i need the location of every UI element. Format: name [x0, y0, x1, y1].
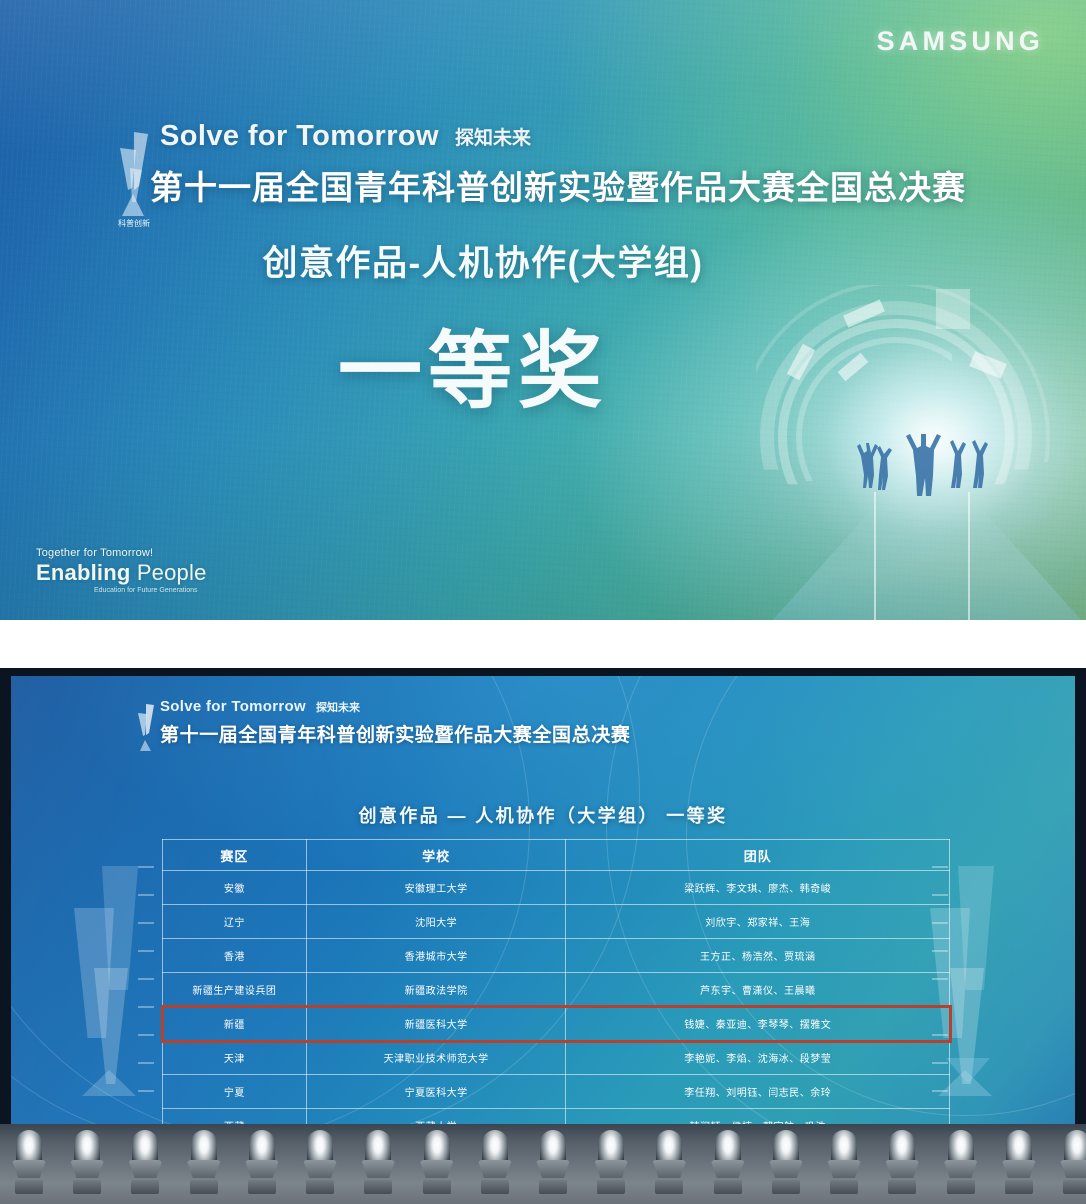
stage-light-base	[830, 1180, 858, 1194]
cell-team: 刘欣宇、郑家祥、王海	[566, 905, 950, 939]
stage-light-yoke	[303, 1160, 337, 1178]
left-trophy-watermark	[72, 866, 148, 1096]
table-row: 安徽 安徽理工大学 梁跃辉、李文琪、廖杰、韩奇峻	[163, 871, 950, 905]
winners-table-body: 安徽 安徽理工大学 梁跃辉、李文琪、廖杰、韩奇峻 辽宁 沈阳大学 刘欣宇、郑家祥…	[163, 871, 950, 1132]
stage-light-yoke	[944, 1160, 978, 1178]
stage-light-base	[306, 1180, 334, 1194]
cell-team: 王方正、杨浩然、贾琉涵	[566, 939, 950, 973]
stage-led-screen: Solve for Tomorrow 探知未来 第十一届全国青年科普创新实验暨作…	[10, 676, 1076, 1131]
stage-light	[10, 1130, 48, 1194]
stage-light-yoke	[128, 1160, 162, 1178]
enabling-people-line: Enabling People	[36, 560, 207, 586]
cell-region: 新疆	[163, 1007, 307, 1041]
together-for-tomorrow-line: Together for Tomorrow!	[36, 547, 207, 559]
stage-light-yoke	[245, 1160, 279, 1178]
bottom-trophy-emblem-icon	[132, 702, 160, 756]
table-row: 香港 香港城市大学 王方正、杨浩然、贾琉涵	[163, 939, 950, 973]
trophy-emblem-icon: 科普创新	[108, 128, 160, 228]
stage-light-yoke	[12, 1160, 46, 1178]
award-level-title: 一等奖	[0, 304, 1086, 425]
screen-bezel-right	[1075, 668, 1086, 1140]
enabling-word: Enabling	[36, 560, 131, 585]
stage-light-base	[73, 1180, 101, 1194]
bottom-winners-list-photo: Solve for Tomorrow 探知未来 第十一届全国青年科普创新实验暨作…	[0, 668, 1086, 1204]
cell-school: 宁夏医科大学	[306, 1075, 566, 1109]
cell-school: 安徽理工大学	[306, 871, 566, 905]
stage-light	[243, 1130, 281, 1194]
program-chinese-label: 探知未来	[455, 123, 531, 150]
header-team: 团队	[566, 840, 950, 871]
table-row: 天津 天津职业技术师范大学 李艳妮、李焰、沈海冰、段梦莹	[163, 1041, 950, 1075]
stage-light-yoke	[187, 1160, 221, 1178]
program-name-row: Solve for Tomorrow 探知未来	[160, 120, 1086, 153]
stage-light	[126, 1130, 164, 1194]
bottom-slide-header: Solve for Tomorrow 探知未来 第十一届全国青年科普创新实验暨作…	[160, 698, 630, 747]
category-title: 创意作品-人机协作(大学组)	[0, 235, 1086, 286]
stage-light-base	[1005, 1180, 1033, 1194]
stage-light-base	[364, 1180, 392, 1194]
stage-light	[942, 1130, 980, 1194]
celebrating-people-silhouettes	[851, 430, 1001, 502]
tunnel-road-line-right	[968, 492, 970, 620]
stage-light-yoke	[361, 1160, 395, 1178]
stage-light	[359, 1130, 397, 1194]
cell-region: 辽宁	[163, 905, 307, 939]
stage-light-yoke	[478, 1160, 512, 1178]
cell-team: 李艳妮、李焰、沈海冰、段梦莹	[566, 1041, 950, 1075]
cell-region: 宁夏	[163, 1075, 307, 1109]
stage-light-yoke	[1002, 1160, 1036, 1178]
cell-region: 安徽	[163, 871, 307, 905]
bottom-event-title: 第十一届全国青年科普创新实验暨作品大赛全国总决赛	[160, 720, 630, 747]
cell-team: 芦东宇、曹潇仪、王晨曦	[566, 973, 950, 1007]
stage-light-base	[190, 1180, 218, 1194]
cell-team: 李任翔、刘明钰、闫志民、余玲	[566, 1075, 950, 1109]
stage-light-yoke	[1060, 1160, 1086, 1178]
cell-school: 沈阳大学	[306, 905, 566, 939]
bottom-program-row: Solve for Tomorrow 探知未来	[160, 698, 630, 715]
education-tagline: Education for Future Generations	[94, 587, 207, 594]
screenshot-page: SAMSUNG	[0, 0, 1086, 1204]
screen-bezel-left	[0, 668, 11, 1140]
trophy-emblem-label: 科普创新	[118, 218, 150, 228]
stage-light	[301, 1130, 339, 1194]
stage-light-base	[131, 1180, 159, 1194]
stage-light	[592, 1130, 630, 1194]
header-region: 赛区	[163, 840, 307, 871]
winners-table: 赛区 学校 团队 安徽 安徽理工大学 梁跃辉、李文琪、廖杰、韩奇峻 辽宁 沈阳大…	[162, 839, 950, 1131]
enabling-people-footer-logo: Together for Tomorrow! Enabling People E…	[36, 547, 207, 594]
cell-region: 新疆生产建设兵团	[163, 973, 307, 1007]
stage-light	[825, 1130, 863, 1194]
stage-light-yoke	[594, 1160, 628, 1178]
stage-light-yoke	[827, 1160, 861, 1178]
stage-light-base	[947, 1180, 975, 1194]
stage-light-base	[888, 1180, 916, 1194]
stage-light-yoke	[769, 1160, 803, 1178]
stage-light	[418, 1130, 456, 1194]
table-row-highlighted: 新疆 新疆医科大学 钱婕、秦亚迪、李琴琴、摆雅文	[163, 1007, 950, 1041]
stage-light-yoke	[70, 1160, 104, 1178]
cell-region: 香港	[163, 939, 307, 973]
stage-light-base	[1063, 1180, 1086, 1194]
people-word: People	[137, 560, 207, 585]
solve-for-tomorrow-label: Solve for Tomorrow	[160, 120, 439, 153]
bottom-solve-for-tomorrow-label: Solve for Tomorrow	[160, 698, 306, 715]
samsung-logo: SAMSUNG	[877, 26, 1044, 57]
stage-light-base	[714, 1180, 742, 1194]
top-slide-text-block: Solve for Tomorrow 探知未来 第十一届全国青年科普创新实验暨作…	[0, 120, 1086, 425]
winners-list-subtitle: 创意作品 — 人机协作（大学组） 一等奖	[10, 802, 1076, 828]
screen-bezel-top	[0, 668, 1086, 676]
cell-region: 天津	[163, 1041, 307, 1075]
stage-light-yoke	[652, 1160, 686, 1178]
top-award-slide-photo: SAMSUNG	[0, 0, 1086, 620]
stage-light-base	[539, 1180, 567, 1194]
down-arrow-decoration	[946, 1058, 990, 1084]
table-row: 宁夏 宁夏医科大学 李任翔、刘明钰、闫志民、余玲	[163, 1075, 950, 1109]
stage-light-base	[248, 1180, 276, 1194]
stage-light-yoke	[420, 1160, 454, 1178]
tunnel-road-line-left	[874, 492, 876, 620]
table-header-row: 赛区 学校 团队	[163, 840, 950, 871]
stage-light	[68, 1130, 106, 1194]
stage-light	[534, 1130, 572, 1194]
stage-light-yoke	[885, 1160, 919, 1178]
header-school: 学校	[306, 840, 566, 871]
stage-light	[185, 1130, 223, 1194]
stage-light	[650, 1130, 688, 1194]
cell-school: 香港城市大学	[306, 939, 566, 973]
cell-school: 新疆政法学院	[306, 973, 566, 1007]
stage-light-base	[655, 1180, 683, 1194]
stage-light-base	[423, 1180, 451, 1194]
cell-team: 钱婕、秦亚迪、李琴琴、摆雅文	[566, 1007, 950, 1041]
table-row: 辽宁 沈阳大学 刘欣宇、郑家祥、王海	[163, 905, 950, 939]
stage-light-base	[597, 1180, 625, 1194]
table-row: 新疆生产建设兵团 新疆政法学院 芦东宇、曹潇仪、王晨曦	[163, 973, 950, 1007]
stage-light	[709, 1130, 747, 1194]
stage-light-yoke	[711, 1160, 745, 1178]
bottom-program-chinese-label: 探知未来	[316, 699, 360, 715]
photo-separator-gap	[0, 620, 1086, 668]
stage-light-yoke	[536, 1160, 570, 1178]
stage-light	[767, 1130, 805, 1194]
cell-school: 天津职业技术师范大学	[306, 1041, 566, 1075]
stage-lights-row	[0, 1124, 1086, 1194]
stage-light	[1058, 1130, 1086, 1194]
event-title: 第十一届全国青年科普创新实验暨作品大赛全国总决赛	[150, 161, 1086, 209]
stage-light	[883, 1130, 921, 1194]
stage-light	[476, 1130, 514, 1194]
stage-light	[1000, 1130, 1038, 1194]
cell-team: 梁跃辉、李文琪、廖杰、韩奇峻	[566, 871, 950, 905]
stage-light-base	[15, 1180, 43, 1194]
stage-light-base	[481, 1180, 509, 1194]
stage-light-base	[772, 1180, 800, 1194]
cell-school: 新疆医科大学	[306, 1007, 566, 1041]
